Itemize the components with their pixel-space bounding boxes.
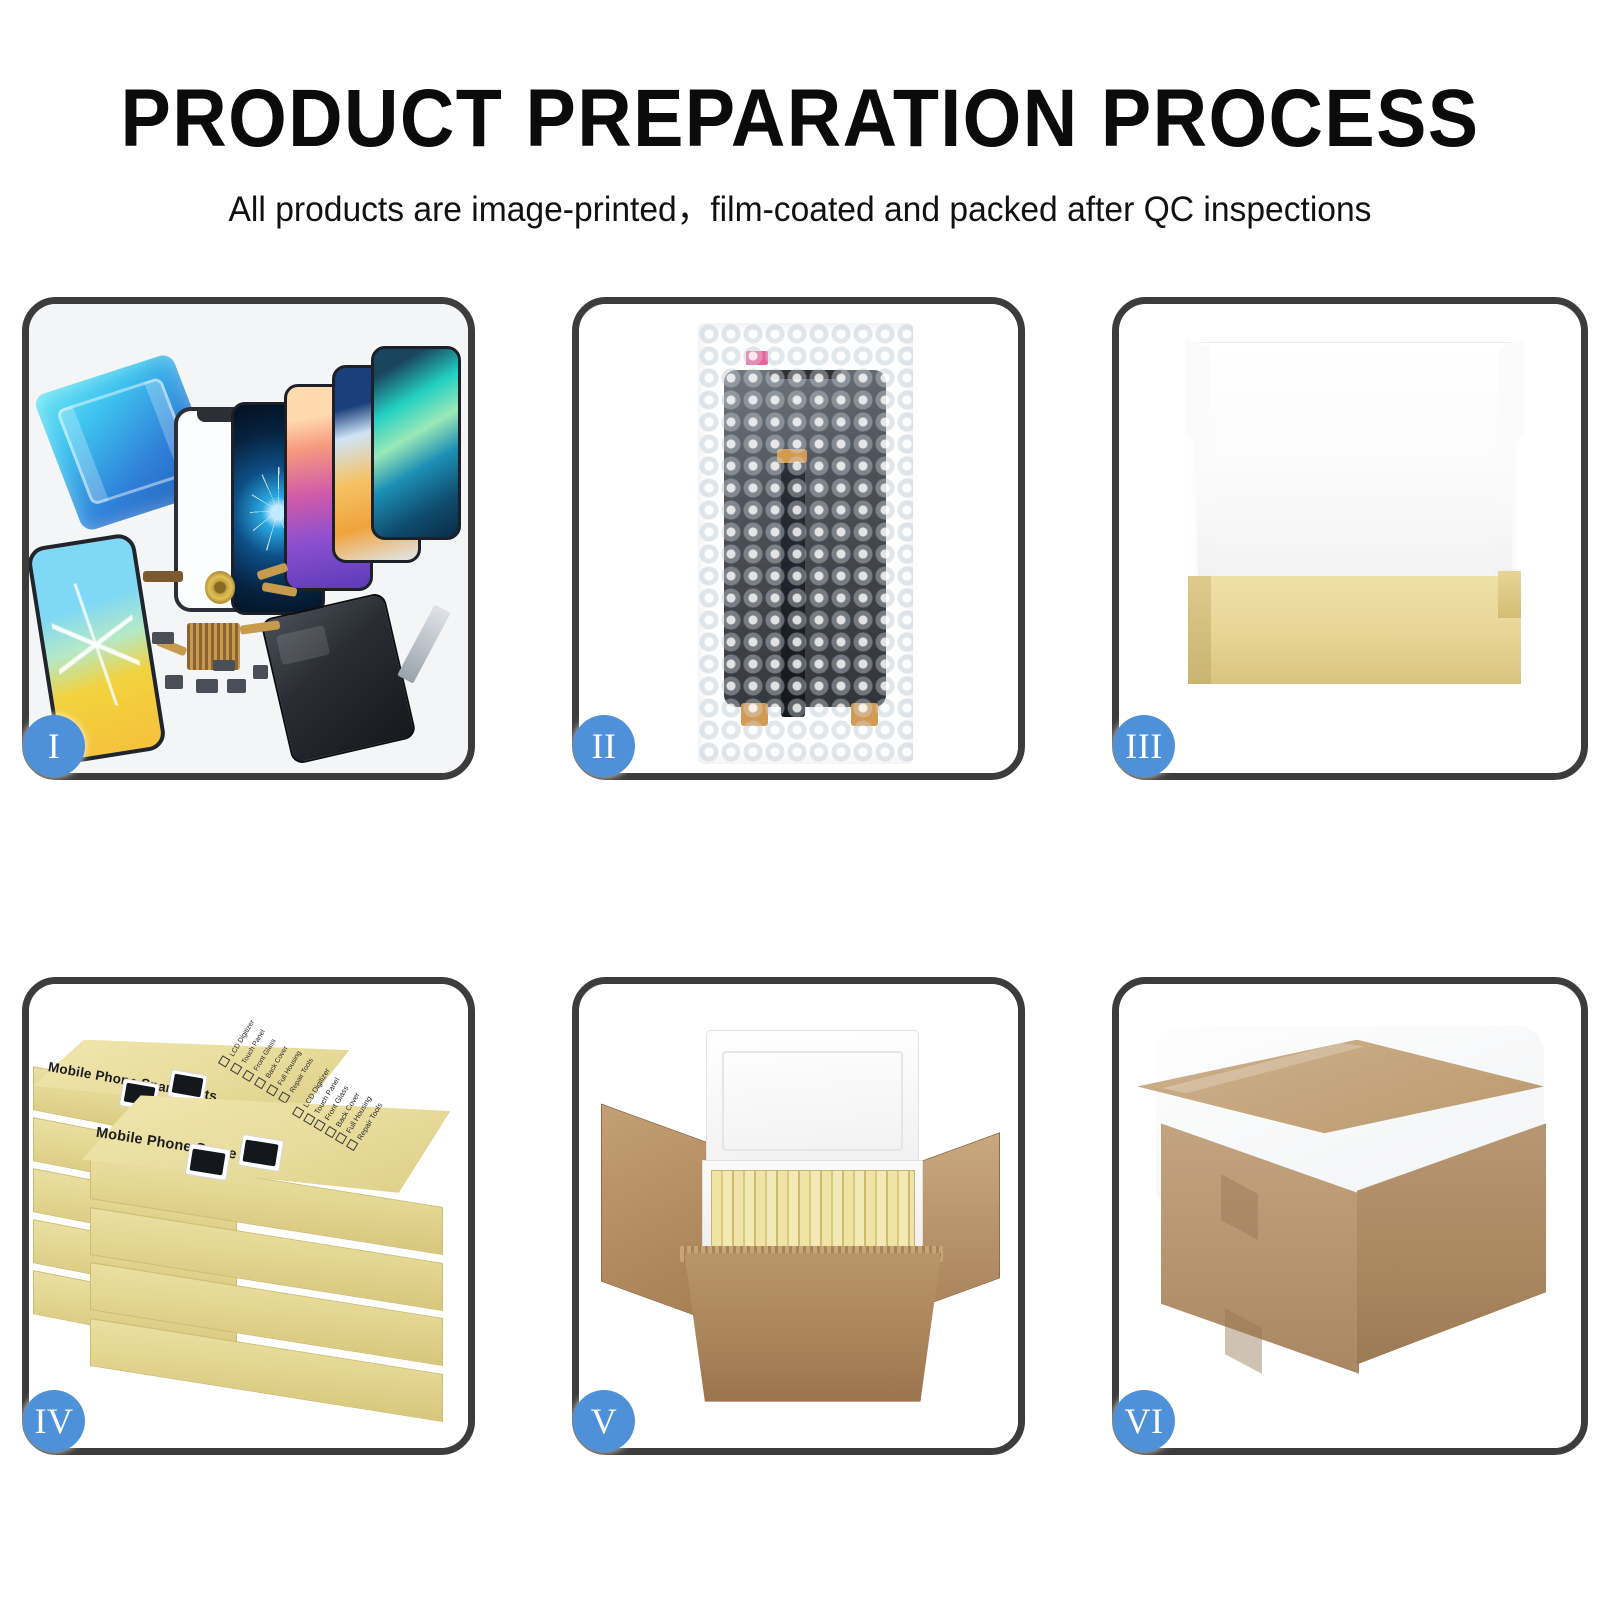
display-ribbon-cable [781,459,805,717]
step-panel-6[interactable]: VI [1112,977,1588,1455]
tray-left-lip [1188,576,1211,684]
step-badge-6: VI [1113,1390,1175,1452]
step-panel-4[interactable]: Mobile Phone Spare Parts LCD Digitizer T… [22,977,475,1455]
step-badge-2: II [573,715,635,777]
back-housing-part [260,592,417,766]
step-panel-1[interactable]: I [22,297,475,780]
pink-qc-tab [746,351,768,365]
foam-case-lid [706,1030,919,1171]
sensor-part [253,665,268,679]
gold-boxes-inside [711,1170,915,1251]
repair-tool [398,605,451,684]
box-stack: Mobile Phone Spare Parts LCD Digitizer T… [29,984,468,1448]
button-part [227,679,247,693]
infographic-page: PRODUCT PREPARATION PROCESS All products… [0,0,1600,1600]
step-5-image [579,984,1018,1448]
step-2-image [579,304,1018,773]
step-panel-2[interactable]: II [572,297,1025,780]
step-badge-3: III [1113,715,1175,777]
process-step-grid: I II [0,0,1600,1600]
connector-top [777,449,808,463]
step-6-image [1119,984,1581,1448]
vibrator-motor-part [152,632,174,643]
step-badge-4: IV [23,1390,85,1452]
lcd-assembly [724,370,886,708]
step-panel-5[interactable]: V [572,977,1025,1455]
step-badge-5: V [573,1390,635,1452]
step-badge-1: I [23,715,85,777]
connector-bottom-right [851,703,877,726]
step-panel-3[interactable]: III [1112,297,1588,780]
step-1-image [29,304,468,773]
phone-screen-teal [371,346,460,540]
connector-bottom-left [741,703,767,726]
camera-module-part [213,660,235,670]
carton-body [684,1253,941,1401]
step-4-image: Mobile Phone Spare Parts LCD Digitizer T… [29,984,468,1448]
sim-tray-part [165,675,183,689]
foam-sheet [1216,440,1493,590]
tray-right-lip [1498,571,1521,618]
gold-box-tray [1188,576,1521,684]
step-3-image [1119,304,1581,773]
box-screen-image-b2 [237,1134,283,1172]
earpiece-speaker-part [143,571,183,581]
speaker-part [196,679,218,693]
